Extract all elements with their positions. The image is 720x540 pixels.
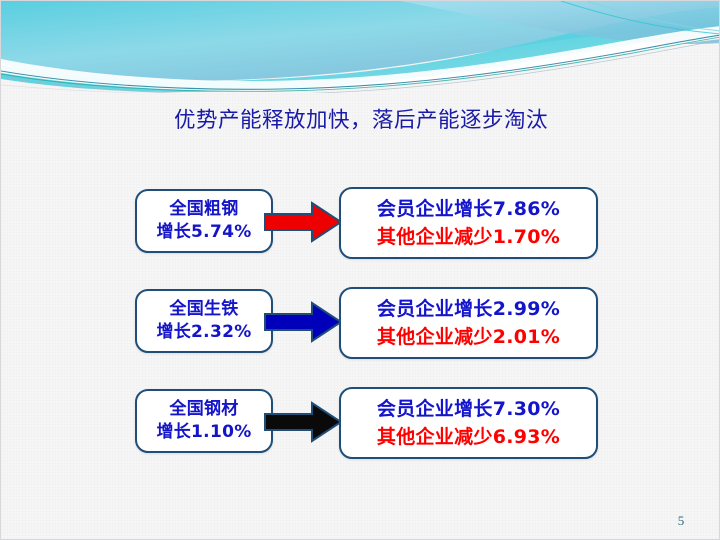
result-line-member: 会员企业增长7.30% — [377, 395, 560, 423]
source-box: 全国生铁 增长2.32% — [135, 289, 273, 353]
result-line-member: 会员企业增长7.86% — [377, 195, 560, 223]
black-arrow-icon — [264, 401, 342, 443]
result-line-other: 其他企业减少1.70% — [377, 223, 560, 251]
result-line-other: 其他企业减少6.93% — [377, 423, 560, 451]
result-box: 会员企业增长7.30% 其他企业减少6.93% — [339, 387, 598, 459]
source-box: 全国钢材 增长1.10% — [135, 389, 273, 453]
flow-row: 全国生铁 增长2.32% 会员企业增长2.99% 其他企业减少2.01% — [1, 287, 720, 363]
page-number: 5 — [661, 513, 701, 529]
source-line-2: 增长2.32% — [156, 321, 251, 344]
slide-canvas: 优势产能释放加快，落后产能逐步淘汰 全国粗钢 增长5.74% 会员企业增长7.8… — [0, 0, 720, 540]
source-line-1: 全国生铁 — [169, 298, 238, 321]
result-line-member: 会员企业增长2.99% — [377, 295, 560, 323]
source-line-2: 增长5.74% — [156, 221, 251, 244]
page-title: 优势产能释放加快，落后产能逐步淘汰 — [1, 106, 720, 136]
source-line-1: 全国粗钢 — [169, 198, 238, 221]
flow-row: 全国钢材 增长1.10% 会员企业增长7.30% 其他企业减少6.93% — [1, 387, 720, 463]
source-box: 全国粗钢 增长5.74% — [135, 189, 273, 253]
blue-arrow-icon — [264, 301, 342, 343]
result-box: 会员企业增长7.86% 其他企业减少1.70% — [339, 187, 598, 259]
flow-row: 全国粗钢 增长5.74% 会员企业增长7.86% 其他企业减少1.70% — [1, 187, 720, 263]
header-wave-decoration — [1, 1, 720, 93]
source-line-1: 全国钢材 — [169, 398, 238, 421]
result-box: 会员企业增长2.99% 其他企业减少2.01% — [339, 287, 598, 359]
red-arrow-icon — [264, 201, 342, 243]
source-line-2: 增长1.10% — [156, 421, 251, 444]
result-line-other: 其他企业减少2.01% — [377, 323, 560, 351]
